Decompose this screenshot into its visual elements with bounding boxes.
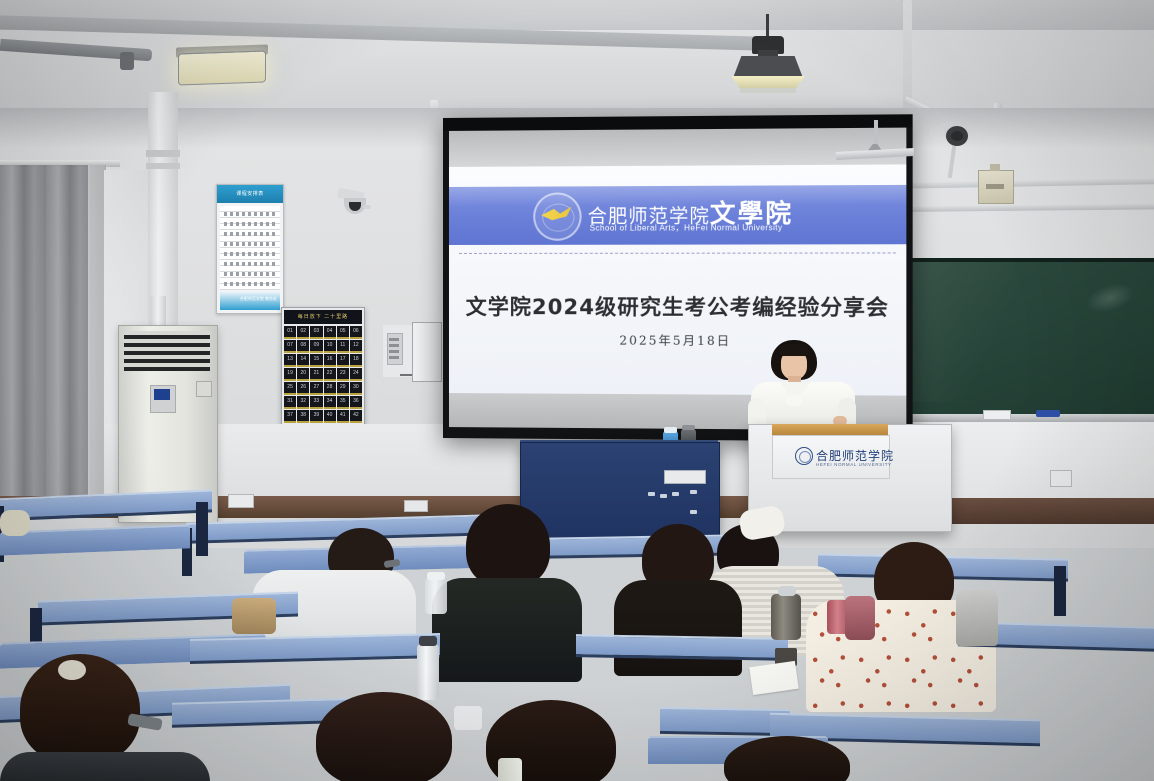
steel-thermos[interactable] <box>771 594 801 640</box>
cabinet-button[interactable] <box>690 490 697 494</box>
phone-pocket[interactable]: 12 <box>350 340 362 353</box>
notice-board-header: 课程安排表 <box>217 185 283 203</box>
phone-pocket[interactable]: 32 <box>297 396 309 409</box>
hair-clip-icon <box>58 660 86 680</box>
phone-pocket[interactable]: 20 <box>297 368 309 381</box>
phone-pocket[interactable]: 03 <box>310 326 322 339</box>
notice-board-table <box>220 206 280 290</box>
student-head <box>316 692 452 781</box>
dark-flask-cap <box>682 425 695 430</box>
control-cabinet-label <box>664 470 706 484</box>
phone-pocket[interactable]: 19 <box>284 368 296 381</box>
phone-pocket[interactable]: 17 <box>337 354 349 367</box>
water-bottle-cap <box>427 572 445 580</box>
notice-board[interactable]: 课程安排表 合肥师范学院 教务处 <box>216 184 284 314</box>
phone-pocket[interactable]: 08 <box>297 340 309 353</box>
steel-thermos-cap <box>778 586 796 596</box>
phone-pocket[interactable]: 05 <box>337 326 349 339</box>
student-head <box>466 504 550 588</box>
slide-date: 2025年5月18日 <box>449 331 906 350</box>
phone-pocket[interactable]: 11 <box>337 340 349 353</box>
phone-pocket[interactable]: 07 <box>284 340 296 353</box>
paper-handout[interactable] <box>749 661 798 695</box>
podium-english-name: HEFEI NORMAL UNIVERSITY <box>816 462 892 467</box>
phone-pocket[interactable]: 13 <box>284 354 296 367</box>
breaker-switch[interactable] <box>389 338 399 341</box>
phone-pocket[interactable]: 15 <box>310 354 322 367</box>
phone-pocket[interactable]: 18 <box>350 354 362 367</box>
pendant-lamp-icon <box>733 56 803 78</box>
phone-pocket[interactable]: 27 <box>310 382 322 395</box>
desk-row <box>576 634 788 661</box>
conduit-pipe <box>903 0 912 112</box>
notice-row <box>224 222 278 226</box>
water-bottle[interactable] <box>498 758 522 781</box>
electrical-panel-door[interactable] <box>412 322 442 382</box>
air-conditioner-grille <box>124 331 210 371</box>
phone-pocket[interactable]: 30 <box>350 382 362 395</box>
pendant-lamp-rim <box>740 88 796 93</box>
slide-top-margin <box>449 128 906 167</box>
wall-junction-box-knob <box>990 164 1000 171</box>
phone-pocket[interactable]: 21 <box>310 368 322 381</box>
ceiling-lamp-icon <box>178 50 266 85</box>
phone-pocket[interactable]: 16 <box>324 354 336 367</box>
phone-pocket[interactable]: 25 <box>284 382 296 395</box>
phone-pocket[interactable]: 14 <box>297 354 309 367</box>
notice-row <box>224 212 278 216</box>
slide-logo-english: School of Liberal Arts，HeFei Normal Univ… <box>590 222 783 234</box>
tote-bag[interactable] <box>956 590 998 646</box>
power-socket-icon[interactable] <box>404 500 428 512</box>
phone-pocket[interactable]: 42 <box>350 410 362 423</box>
phone-pocket[interactable]: 41 <box>337 410 349 423</box>
beige-bag[interactable] <box>0 510 30 536</box>
phone-pocket[interactable]: 28 <box>324 382 336 395</box>
ceiling-fan-hub <box>120 52 134 70</box>
air-conditioner-pipe <box>150 296 166 328</box>
phone-pocket[interactable]: 04 <box>324 326 336 339</box>
presenter-hair-front <box>779 344 809 356</box>
phone-pocket-chart-title: 每日放下 二十里路 <box>284 310 362 324</box>
phone-pocket[interactable]: 02 <box>297 326 309 339</box>
chalk-box-icon[interactable] <box>1036 410 1060 417</box>
phone-pocket[interactable]: 33 <box>310 396 322 409</box>
phone-pocket[interactable]: 36 <box>350 396 362 409</box>
student-torso <box>0 752 210 781</box>
camera-tail <box>363 205 371 209</box>
phone-pocket[interactable]: 26 <box>297 382 309 395</box>
phone-pocket[interactable]: 35 <box>337 396 349 409</box>
notice-row <box>224 262 278 266</box>
notice-board-footer: 合肥师范学院 教务处 <box>220 292 280 310</box>
slide-logo-chinese: 合肥师范学院文學院 <box>588 193 838 222</box>
presenter-bow <box>786 394 802 406</box>
phone-pocket[interactable]: 29 <box>337 382 349 395</box>
slide-title: 文学院2024级研究生考公考编经验分享会 <box>449 291 906 322</box>
air-conditioner-badge <box>196 381 212 397</box>
cabinet-button[interactable] <box>648 492 655 496</box>
phone-pocket[interactable]: 38 <box>297 410 309 423</box>
breaker-switch[interactable] <box>389 356 399 359</box>
notice-row <box>224 242 278 246</box>
pink-bag[interactable] <box>845 596 875 640</box>
cabinet-button[interactable] <box>690 510 697 514</box>
phone-pocket[interactable]: 22 <box>324 368 336 381</box>
tan-bag[interactable] <box>232 598 276 634</box>
phone-pocket[interactable]: 34 <box>324 396 336 409</box>
notice-row <box>224 232 278 236</box>
classroom-photo: 课程安排表 合肥师范学院 教务处 每日放下 二十里路 0102030405060… <box>0 0 1154 781</box>
water-bottle[interactable] <box>425 578 447 614</box>
notice-board-footer-text: 合肥师范学院 教务处 <box>240 296 277 302</box>
notice-row <box>224 252 278 256</box>
cabinet-button[interactable] <box>672 492 679 496</box>
student-torso <box>432 578 582 682</box>
thermos-bottle-cap <box>419 636 437 646</box>
column-band <box>146 150 180 157</box>
thermos-bottle[interactable] <box>417 644 439 700</box>
podium-wood-trim <box>772 424 888 435</box>
student-torso <box>614 580 742 676</box>
phone-pocket[interactable]: 39 <box>310 410 322 423</box>
cabinet-button[interactable] <box>660 494 667 498</box>
phone-pocket[interactable]: 31 <box>284 396 296 409</box>
chalkboard-glare <box>890 262 1144 402</box>
desk-leg <box>1054 566 1066 616</box>
phone-pocket[interactable]: 01 <box>284 326 296 339</box>
column-band <box>146 163 180 169</box>
notice-row <box>224 272 278 276</box>
phone-pocket[interactable]: 40 <box>324 410 336 423</box>
chalk-eraser-icon[interactable] <box>983 410 1011 420</box>
power-socket-icon[interactable] <box>228 494 254 508</box>
desk-leg <box>196 502 208 556</box>
air-conditioner-display <box>154 389 170 400</box>
phone-pocket[interactable]: 24 <box>350 368 362 381</box>
wall-speaker-cone <box>951 131 963 141</box>
notice-row <box>224 282 278 286</box>
university-crest-icon <box>795 447 813 465</box>
breaker-switch[interactable] <box>389 344 399 347</box>
cup-icon[interactable] <box>454 706 482 730</box>
phone-pocket[interactable]: 10 <box>324 340 336 353</box>
phone-pocket[interactable]: 37 <box>284 410 296 423</box>
breaker-switch[interactable] <box>389 350 399 353</box>
phone-pocket[interactable]: 06 <box>350 326 362 339</box>
power-socket-icon[interactable] <box>1050 470 1072 487</box>
phone-pocket[interactable]: 09 <box>310 340 322 353</box>
water-bottle-cap <box>664 427 677 433</box>
wall-junction-box-label <box>986 184 1004 189</box>
pendant-lamp-chain <box>766 14 769 38</box>
phone-pocket[interactable]: 23 <box>337 368 349 381</box>
notice-board-header-text: 课程安排表 <box>217 185 283 203</box>
